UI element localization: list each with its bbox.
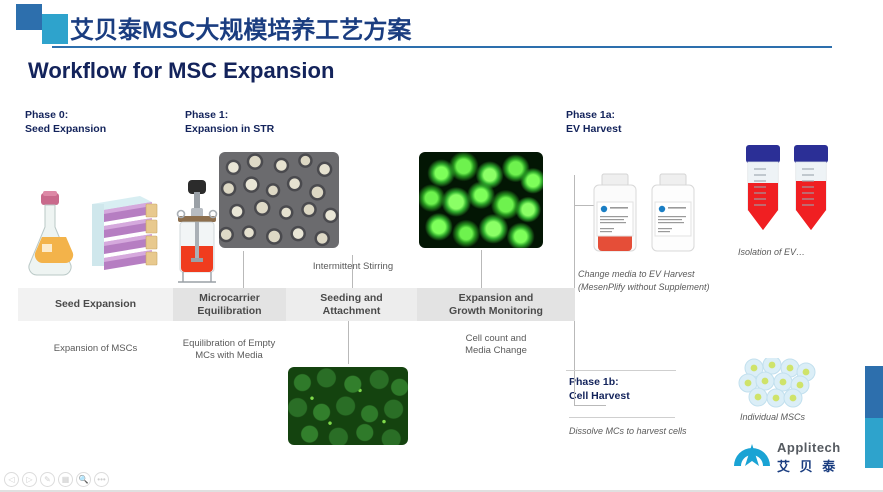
note-isolation-of-ev: Isolation of EV…: [738, 246, 858, 259]
edge-accent-light: [865, 418, 883, 468]
phase-1-line1: Phase 1:: [185, 108, 274, 122]
caption-microcarrier-equilibration: Equilibration of Empty MCs with Media: [167, 338, 291, 363]
note-individual-mscs: Individual MSCs: [740, 411, 860, 424]
stage-microcarrier-equilibration: Microcarrier Equilibration: [173, 288, 286, 321]
connector-cell-branch: [574, 405, 606, 406]
media-bottle-pair-illustration: [590, 172, 700, 261]
phase-0-line2: Seed Expansion: [25, 122, 106, 136]
caption-intermittent-stirring: Intermittent Stirring: [288, 261, 418, 272]
phase-label-1b: Phase 1b: Cell Harvest: [569, 375, 630, 404]
slide-subtitle: Workflow for MSC Expansion: [28, 58, 334, 84]
multilayer-cell-stack-illustration: [88, 190, 158, 281]
logo-text-chinese: 艾 贝 泰: [777, 456, 838, 475]
phase-1a-underline: [566, 370, 676, 371]
zoom-tool-icon[interactable]: 🔍: [76, 472, 91, 487]
connector-growth: [481, 250, 482, 289]
next-slide-icon[interactable]: ▷: [22, 472, 37, 487]
header-divider: [52, 46, 832, 48]
phase-1-line2: Expansion in STR: [185, 122, 274, 136]
header-accent-square-light: [42, 14, 68, 44]
header-accent-square-dark: [16, 4, 42, 30]
stage-2-line1: Seeding and: [320, 292, 382, 305]
stirred-tank-bioreactor-illustration: [172, 178, 222, 289]
slide-title: 艾贝泰MSC大规模培养工艺方案: [70, 10, 411, 45]
stage-seed-expansion: Seed Expansion: [18, 288, 173, 321]
phase-1a-line2: EV Harvest: [566, 122, 621, 136]
stage-0-line1: Seed Expansion: [55, 298, 136, 311]
stage-1-line2: Equilibration: [197, 305, 261, 318]
previous-slide-icon[interactable]: ◁: [4, 472, 19, 487]
stage-seeding-attachment: Seeding and Attachment: [286, 288, 417, 321]
stage-3-line2: Growth Monitoring: [449, 305, 543, 318]
more-options-icon[interactable]: •••: [94, 472, 109, 487]
stage-2-line2: Attachment: [320, 305, 382, 318]
connector-microcarrier: [243, 251, 244, 289]
phase-1b-line1: Phase 1b:: [569, 375, 630, 389]
logo-text-english: Applitech: [777, 440, 841, 455]
conical-centrifuge-tube-pair-illustration: [740, 143, 836, 248]
note-ev-line2: (MesenPlify without Supplement): [578, 281, 768, 294]
phase-label-1: Phase 1: Expansion in STR: [185, 108, 274, 137]
seeded-microcarrier-micrograph: [288, 367, 408, 445]
phase-1b-underline: [569, 417, 675, 418]
pen-tool-icon[interactable]: ✎: [40, 472, 55, 487]
individual-msc-cluster-illustration: [738, 358, 822, 415]
caption-growth-monitoring: Cell count and Media Change: [420, 333, 572, 358]
phase-label-1a: Phase 1a: EV Harvest: [566, 108, 621, 137]
applitech-logo-mark: [730, 432, 774, 481]
phase-0-line1: Phase 0:: [25, 108, 106, 122]
phase-1b-line2: Cell Harvest: [569, 389, 630, 403]
phase-label-0: Phase 0: Seed Expansion: [25, 108, 106, 137]
all-slides-icon[interactable]: ▦: [58, 472, 73, 487]
edge-accent-dark: [865, 366, 883, 418]
note-change-media-ev: Change media to EV Harvest (MesenPlify w…: [578, 268, 768, 294]
stage-1-line1: Microcarrier: [197, 292, 261, 305]
stage-expansion-growth-monitoring: Expansion and Growth Monitoring: [417, 288, 575, 321]
caption-mc-line2: MCs with Media: [167, 350, 291, 362]
empty-microcarrier-beads-micrograph: [219, 152, 339, 248]
caption-growth-line1: Cell count and: [420, 333, 572, 345]
erlenmeyer-flask-illustration: [22, 190, 78, 285]
cell-laden-microcarrier-fluorescence-micrograph: [419, 152, 543, 248]
caption-mc-line1: Equilibration of Empty: [167, 338, 291, 350]
caption-seed-expansion: Expansion of MSCs: [18, 343, 173, 355]
presentation-toolbar: ◁ ▷ ✎ ▦ 🔍 •••: [4, 472, 109, 487]
phase-1a-line1: Phase 1a:: [566, 108, 621, 122]
connector-seeding: [348, 321, 349, 364]
note-ev-line1: Change media to EV Harvest: [578, 268, 768, 281]
stage-3-line1: Expansion and: [449, 292, 543, 305]
presentation-slide: 艾贝泰MSC大规模培养工艺方案 Workflow for MSC Expansi…: [0, 0, 883, 492]
caption-growth-line2: Media Change: [420, 345, 572, 357]
